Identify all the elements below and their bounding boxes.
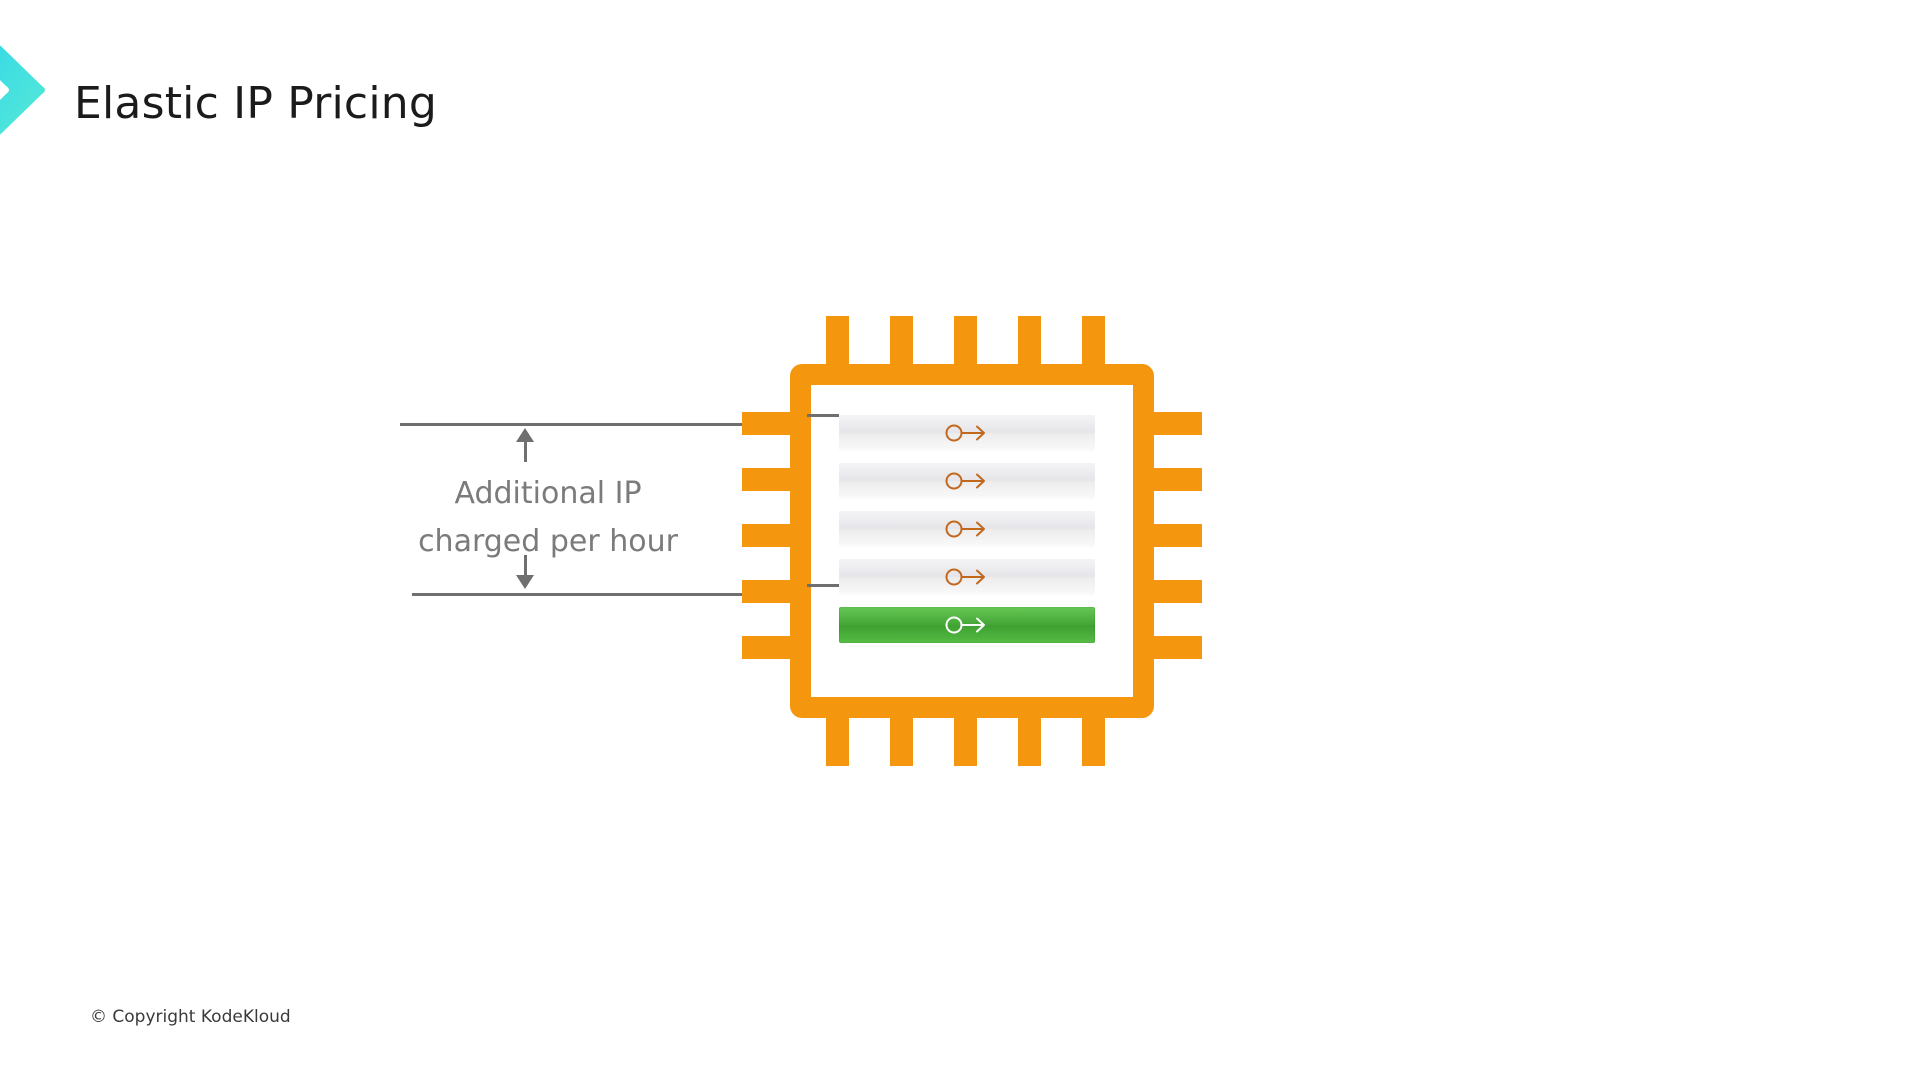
- chip-pin-top-2: [890, 316, 913, 364]
- annotation-label-line-2: charged per hour: [378, 518, 718, 566]
- chip-bar-ip-slot-1[interactable]: [839, 415, 1095, 451]
- chip-pin-top-3: [954, 316, 977, 364]
- dimension-connector-bottom: [807, 584, 839, 587]
- chip-pin-bottom-4: [1018, 718, 1041, 766]
- chip-pin-bottom-1: [826, 718, 849, 766]
- chip-pin-top-4: [1018, 316, 1041, 364]
- chip-pin-right-2: [1154, 468, 1202, 491]
- chip-bar-ip-slot-4[interactable]: [839, 559, 1095, 595]
- chip-bar-ip-slot-5[interactable]: [839, 607, 1095, 643]
- circle-arrow-right-icon: [944, 470, 990, 492]
- page-title: Elastic IP Pricing: [74, 78, 437, 129]
- chip-pin-top-5: [1082, 316, 1105, 364]
- dimension-arrowhead-down: [516, 575, 534, 589]
- circle-arrow-right-icon: [944, 566, 990, 588]
- footer-copyright: © Copyright KodeKloud: [90, 1007, 291, 1027]
- circle-arrow-right-icon: [944, 518, 990, 540]
- chip-bar-list: [839, 415, 1095, 667]
- chip-pin-left-5: [742, 636, 790, 659]
- dimension-connector-top: [807, 414, 839, 417]
- circle-arrow-right-icon: [944, 422, 990, 444]
- circle-arrow-right-icon: [944, 614, 990, 636]
- annotation-label-line-1: Additional IP: [378, 470, 718, 518]
- chip-pin-left-2: [742, 468, 790, 491]
- chip-bar-ip-slot-3[interactable]: [839, 511, 1095, 547]
- chip-pin-left-1: [742, 412, 790, 435]
- chip-pin-bottom-3: [954, 718, 977, 766]
- chip-pin-left-3: [742, 524, 790, 547]
- chip-pin-bottom-2: [890, 718, 913, 766]
- chip-pin-right-4: [1154, 580, 1202, 603]
- chip-pin-top-1: [826, 316, 849, 364]
- dimension-stem-up: [524, 440, 527, 462]
- chevron-logo: [0, 14, 62, 166]
- chip-frame: [790, 364, 1154, 718]
- chip-pin-bottom-5: [1082, 718, 1105, 766]
- network-interface-chip: [742, 316, 1202, 766]
- chip-bar-ip-slot-2[interactable]: [839, 463, 1095, 499]
- chip-pin-right-5: [1154, 636, 1202, 659]
- annotation-label: Additional IP charged per hour: [378, 470, 718, 566]
- chip-pin-right-1: [1154, 412, 1202, 435]
- chip-pin-left-4: [742, 580, 790, 603]
- chip-pin-right-3: [1154, 524, 1202, 547]
